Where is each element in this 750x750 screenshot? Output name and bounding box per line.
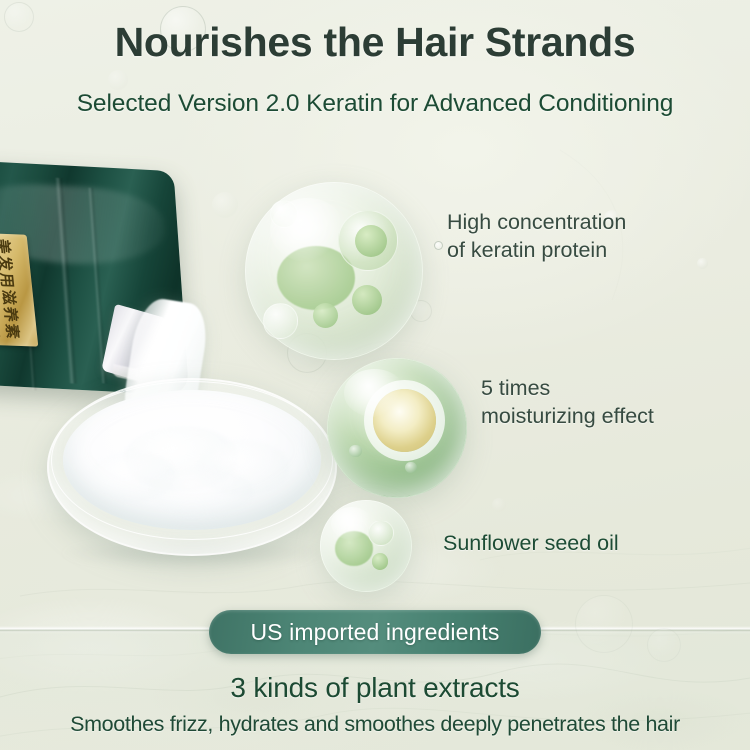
callout-keratin-line1: High concentration — [447, 208, 626, 236]
bubble-core — [373, 389, 436, 452]
bubble-blob — [405, 462, 416, 473]
bubble-blob — [372, 553, 389, 570]
status-badge: US imported ingredients — [209, 610, 541, 654]
callout-sunflower-line1: Sunflower seed oil — [443, 529, 619, 557]
status-badge-label: US imported ingredients — [250, 619, 499, 646]
callout-sunflower: Sunflower seed oil — [443, 529, 619, 557]
bubble-blob-leaf — [355, 225, 387, 257]
pouch-label-trademark: ® — [0, 333, 1, 340]
callout-keratin: High concentration of keratin protein — [447, 208, 626, 265]
page-subtitle: Selected Version 2.0 Keratin for Advance… — [0, 90, 750, 118]
ingredient-bubble-moisture — [327, 358, 467, 498]
decorative-bubble-icon — [697, 258, 708, 269]
callout-keratin-line2: of keratin protein — [447, 236, 626, 264]
ingredient-bubble-sunflower — [320, 500, 412, 592]
petri-dish — [47, 378, 337, 556]
footer-tagline: Smoothes frizz, hydrates and smoothes de… — [0, 712, 750, 737]
decorative-bubble-icon — [212, 192, 238, 218]
pouch-label-text: 美发用滋养素 — [0, 238, 24, 341]
plant-extracts-headline: 3 kinds of plant extracts — [0, 672, 750, 704]
bubble-blob — [313, 303, 338, 328]
product-poster: Nourishes the Hair Strands Selected Vers… — [0, 0, 750, 750]
bubble-blob — [368, 520, 394, 546]
callout-bubble-icon — [434, 241, 443, 250]
callout-moisture: 5 times moisturizing effect — [481, 374, 654, 431]
bubble-blob — [263, 303, 299, 339]
decorative-bubble-icon — [575, 595, 633, 653]
ingredient-bubble-keratin — [245, 182, 423, 360]
callout-moisture-line1: 5 times — [481, 374, 654, 402]
decorative-bubble-icon — [492, 498, 506, 512]
decorative-bubble-icon — [108, 70, 128, 90]
page-title: Nourishes the Hair Strands — [0, 19, 750, 66]
dish-rim — [51, 381, 333, 540]
callout-moisture-line2: moisturizing effect — [481, 402, 654, 430]
decorative-bubble-icon — [647, 628, 681, 662]
